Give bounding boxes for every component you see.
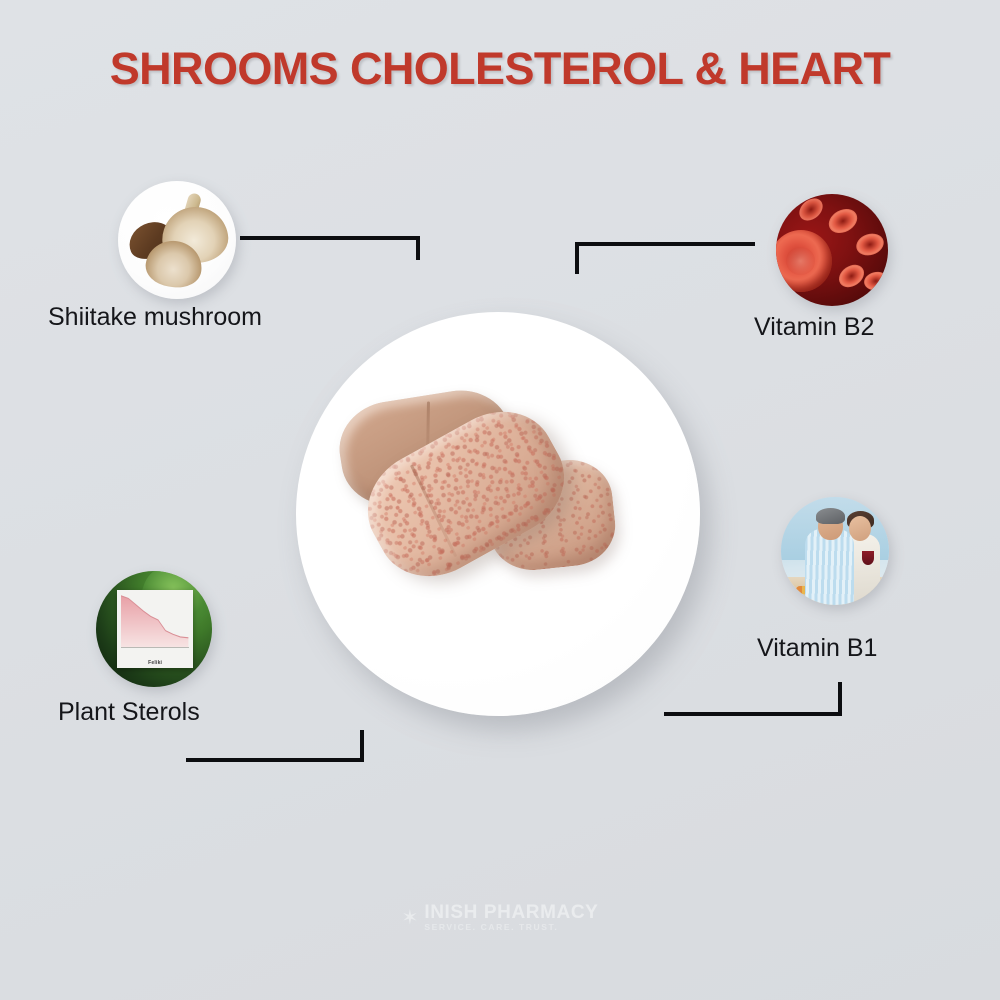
shiitake-mushroom-icon[interactable] xyxy=(118,181,236,299)
cholesterol-chart-axis xyxy=(121,647,188,648)
page-title: SHROOMS CHOLESTEROL & HEART xyxy=(0,43,1000,95)
connector-shiitake-horizontal xyxy=(240,236,420,240)
cholesterol-chart-icon[interactable]: Feliki xyxy=(96,571,212,687)
infographic-canvas: SHROOMS CHOLESTEROL & HEART Shiitake mus… xyxy=(0,0,1000,1000)
brand-watermark: ✶ INISH PHARMACY SERVICE. CARE. TRUST. xyxy=(0,903,1000,932)
center-product-image xyxy=(296,312,700,716)
blood-cell-b xyxy=(853,230,886,259)
connector-sterols-vertical xyxy=(360,730,364,762)
connector-b1-vertical xyxy=(838,682,842,716)
node-label-vitamin-b1: Vitamin B1 xyxy=(757,634,877,663)
connector-b2-vertical xyxy=(575,242,579,274)
node-label-vitamin-b2: Vitamin B2 xyxy=(754,313,874,342)
watermark-tagline: SERVICE. CARE. TRUST. xyxy=(424,923,598,932)
man-hair xyxy=(816,508,845,524)
connector-sterols-horizontal xyxy=(186,758,364,762)
connector-b2-horizontal xyxy=(575,242,755,246)
node-label-plant-sterols: Plant Sterols xyxy=(58,698,200,727)
blood-cell-a xyxy=(825,204,862,238)
red-blood-cells-icon[interactable] xyxy=(776,194,888,306)
star-icon: ✶ xyxy=(402,908,419,928)
cholesterol-area-plot xyxy=(121,594,188,648)
blood-cell-e xyxy=(795,194,827,225)
cholesterol-area-svg xyxy=(121,594,188,648)
blood-cell-d xyxy=(862,270,888,293)
node-label-shiitake: Shiitake mushroom xyxy=(48,303,262,332)
couple-cooking-icon[interactable] xyxy=(781,497,889,605)
cholesterol-chart-brand-label: Feliki xyxy=(117,660,194,666)
wine-glass xyxy=(862,551,874,565)
blood-cell-c xyxy=(835,260,869,292)
man-body xyxy=(805,529,855,605)
watermark-brand-name: INISH PHARMACY xyxy=(424,903,598,923)
connector-shiitake-vertical xyxy=(416,236,420,260)
cholesterol-chart-card: Feliki xyxy=(117,590,194,669)
connector-b1-horizontal xyxy=(664,712,842,716)
blood-cell-foreground xyxy=(776,230,832,292)
